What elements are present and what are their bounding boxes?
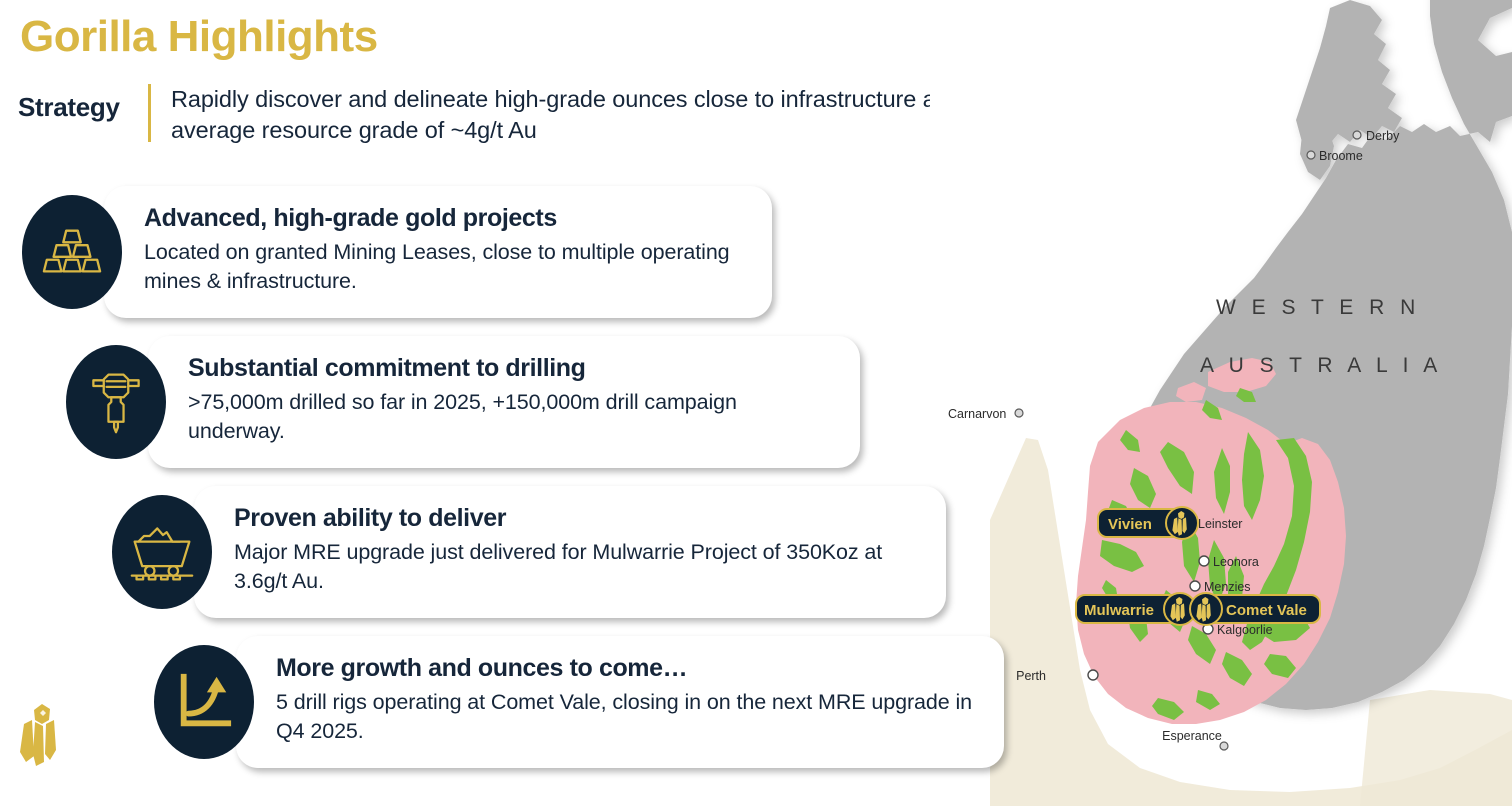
gold-bars-icon — [41, 221, 103, 283]
card-title: Substantial commitment to drilling — [188, 354, 834, 383]
city-dot-broome — [1307, 151, 1315, 159]
city-label-kalgoorlie: Kalgoorlie — [1217, 623, 1273, 637]
highlight-card-2: Substantial commitment to drilling >75,0… — [66, 336, 860, 468]
city-dot-perth — [1088, 670, 1098, 680]
city-label-leonora: Leonora — [1213, 555, 1259, 569]
city-dot-esperance — [1220, 742, 1228, 750]
growth-arrow-icon-badge — [154, 645, 254, 759]
city-label-broome: Broome — [1319, 149, 1363, 163]
map-western-australia: W E S T E R N A U S T R A L I A Derby Br… — [930, 0, 1512, 806]
city-label-esperance: Esperance — [1162, 729, 1222, 743]
card-text: 5 drill rigs operating at Comet Vale, cl… — [276, 688, 978, 745]
highlight-card-1: Advanced, high-grade gold projects Locat… — [22, 186, 772, 318]
card-text: >75,000m drilled so far in 2025, +150,00… — [188, 388, 834, 445]
map-svg: W E S T E R N A U S T R A L I A Derby Br… — [930, 0, 1512, 806]
city-label-leinster: Leinster — [1198, 517, 1242, 531]
card-title: Proven ability to deliver — [234, 504, 920, 533]
highlight-cards: Advanced, high-grade gold projects Locat… — [0, 0, 1030, 806]
highlight-card-4: More growth and ounces to come… 5 drill … — [154, 636, 1004, 768]
gold-bars-icon-badge — [22, 195, 122, 309]
jackhammer-drill-icon — [85, 369, 147, 435]
growth-arrow-icon — [174, 671, 234, 733]
project-badge-mulwarrie[interactable]: Mulwarrie — [1076, 593, 1196, 625]
city-dot-menzies — [1190, 581, 1200, 591]
highlight-card-body-1: Advanced, high-grade gold projects Locat… — [104, 186, 772, 318]
mine-cart-icon — [129, 522, 195, 582]
mine-cart-icon-badge — [112, 495, 212, 609]
card-title: Advanced, high-grade gold projects — [144, 204, 746, 233]
city-label-carnarvon: Carnarvon — [948, 407, 1006, 421]
city-label-derby: Derby — [1366, 129, 1400, 143]
city-dot-derby — [1353, 131, 1361, 139]
project-label-vivien: Vivien — [1108, 516, 1152, 533]
city-dot-carnarvon — [1015, 409, 1023, 417]
project-label-comet-vale: Comet Vale — [1226, 602, 1307, 619]
region-label-line2: A U S T R A L I A — [1200, 354, 1442, 377]
highlight-card-3: Proven ability to deliver Major MRE upgr… — [112, 486, 946, 618]
highlight-card-body-2: Substantial commitment to drilling >75,0… — [148, 336, 860, 468]
highlight-card-body-3: Proven ability to deliver Major MRE upgr… — [194, 486, 946, 618]
card-title: More growth and ounces to come… — [276, 654, 978, 683]
project-label-mulwarrie: Mulwarrie — [1084, 602, 1154, 619]
gorilla-logo — [12, 700, 74, 770]
region-label-line1: W E S T E R N — [1216, 296, 1420, 319]
card-text: Major MRE upgrade just delivered for Mul… — [234, 538, 920, 595]
project-badge-comet-vale[interactable]: Comet Vale — [1190, 593, 1320, 625]
project-badge-vivien[interactable]: Vivien — [1098, 507, 1198, 539]
highlight-card-body-4: More growth and ounces to come… 5 drill … — [236, 636, 1004, 768]
city-label-menzies: Menzies — [1204, 580, 1251, 594]
city-label-perth: Perth — [1016, 669, 1046, 683]
city-dot-leonora — [1199, 556, 1209, 566]
jackhammer-drill-icon-badge — [66, 345, 166, 459]
card-text: Located on granted Mining Leases, close … — [144, 238, 746, 295]
